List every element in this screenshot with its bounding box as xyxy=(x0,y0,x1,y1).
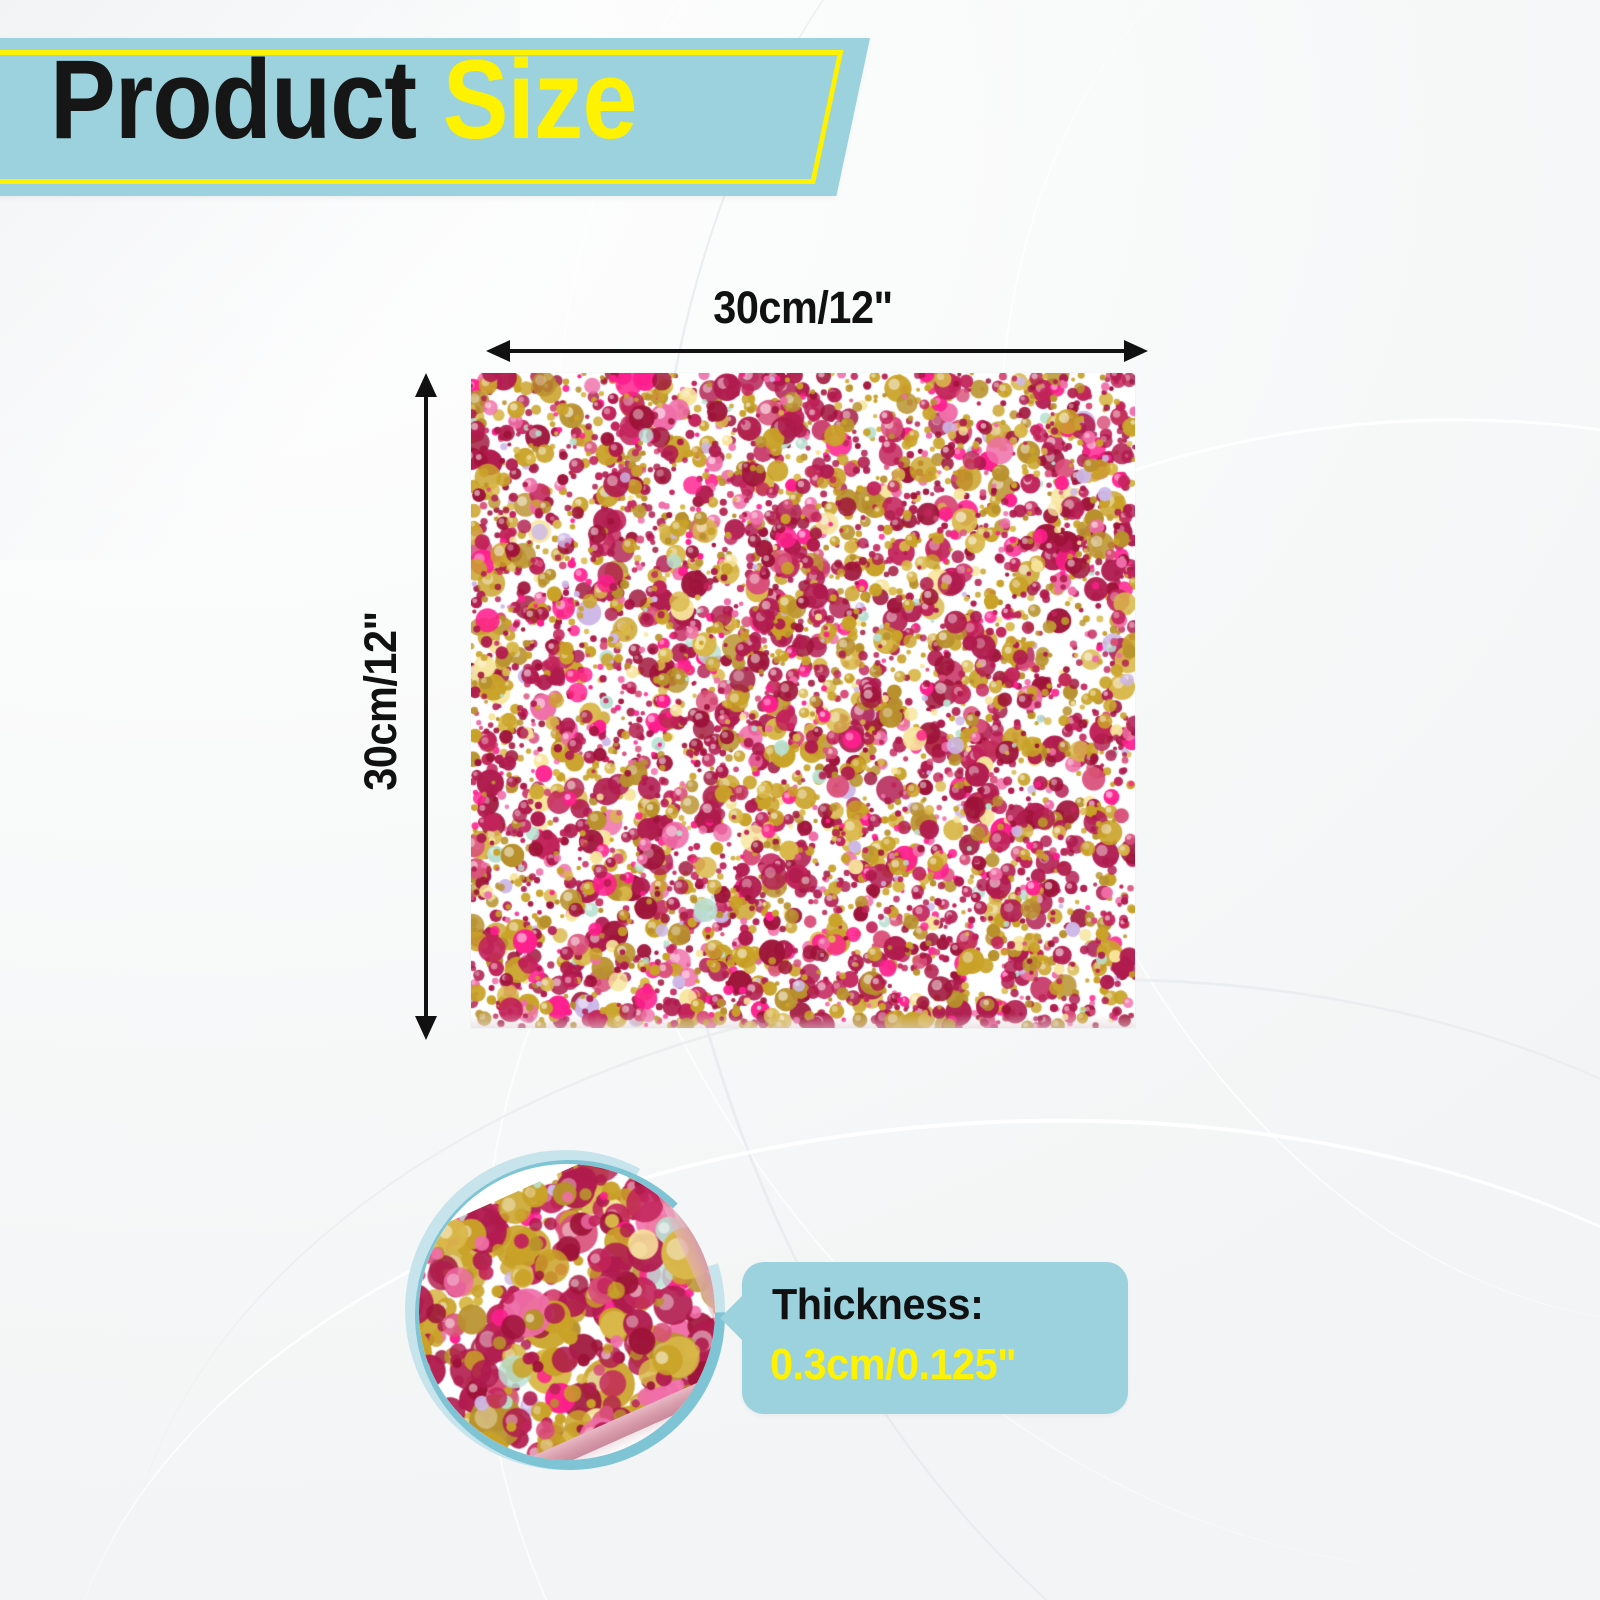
thickness-detail-circle xyxy=(403,1148,731,1476)
width-dimension-label: 30cm/12" xyxy=(498,282,1109,334)
infographic-canvas: Product Size 30cm/12" 30cm/12" Thickness… xyxy=(0,0,1600,1600)
sheet-bottom-shade xyxy=(471,1014,1135,1028)
width-arrow-left-icon xyxy=(486,340,510,362)
width-dimension-line xyxy=(496,349,1141,353)
height-dimension-line xyxy=(424,383,428,1023)
product-slab-closeup xyxy=(419,1164,715,1460)
height-arrow-down-icon xyxy=(415,1016,437,1040)
detail-circle-clip xyxy=(419,1164,715,1460)
thickness-badge-pointer xyxy=(720,1292,746,1344)
height-dimension-label: 30cm/12" xyxy=(355,554,407,848)
width-arrow-right-icon xyxy=(1124,340,1148,362)
product-sheet-image xyxy=(471,373,1135,1028)
thickness-value: 0.3cm/0.125" xyxy=(770,1340,1016,1390)
thickness-label: Thickness: xyxy=(772,1280,983,1330)
page-title: Product Size xyxy=(50,44,772,184)
thickness-badge: Thickness: 0.3cm/0.125" xyxy=(742,1262,1128,1414)
confetti-texture xyxy=(471,373,1135,1028)
page-title-word-product: Product xyxy=(50,37,416,162)
height-arrow-up-icon xyxy=(415,373,437,397)
page-title-word-size: Size xyxy=(416,37,636,162)
